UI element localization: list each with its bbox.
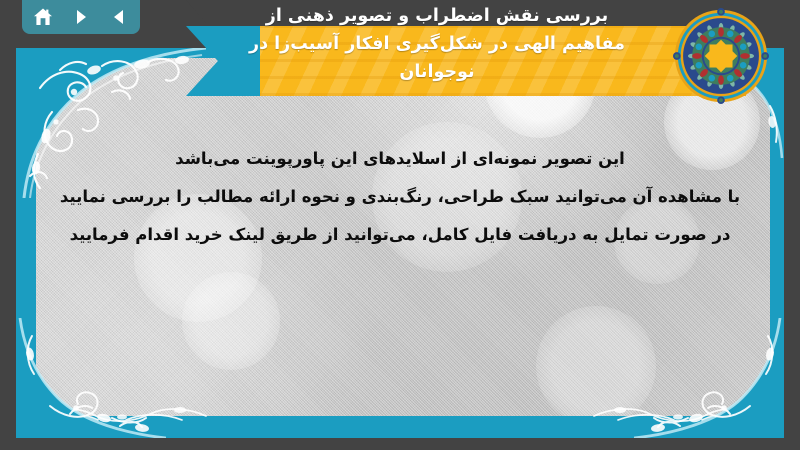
frame-edge-top bbox=[16, 48, 784, 58]
frame-edge-bottom bbox=[16, 416, 784, 438]
bokeh-circle bbox=[536, 306, 656, 426]
forward-button[interactable] bbox=[70, 6, 92, 28]
home-button[interactable] bbox=[32, 6, 54, 28]
frame-edge-right bbox=[770, 48, 784, 438]
bokeh-circle bbox=[182, 272, 280, 370]
slide-preview-window: این تصویر نمونه‌ای از اسلایدهای این پاور… bbox=[0, 0, 800, 450]
back-button[interactable] bbox=[108, 6, 130, 28]
body-line-3: در صورت تمایل به دریافت فایل کامل، می‌تو… bbox=[56, 216, 744, 254]
slide-canvas: این تصویر نمونه‌ای از اسلایدهای این پاور… bbox=[16, 48, 784, 438]
home-icon bbox=[33, 7, 53, 27]
navigation-bar bbox=[22, 0, 140, 34]
frame-edge-left bbox=[16, 48, 36, 438]
slide-body-text: این تصویر نمونه‌ای از اسلایدهای این پاور… bbox=[56, 140, 744, 254]
banner-notch bbox=[186, 0, 262, 26]
triangle-right-icon bbox=[72, 8, 90, 26]
triangle-left-icon bbox=[110, 8, 128, 26]
body-line-1: این تصویر نمونه‌ای از اسلایدهای این پاور… bbox=[56, 140, 744, 178]
body-line-2: با مشاهده آن می‌توانید سبک طراحی، رنگ‌بن… bbox=[56, 178, 744, 216]
